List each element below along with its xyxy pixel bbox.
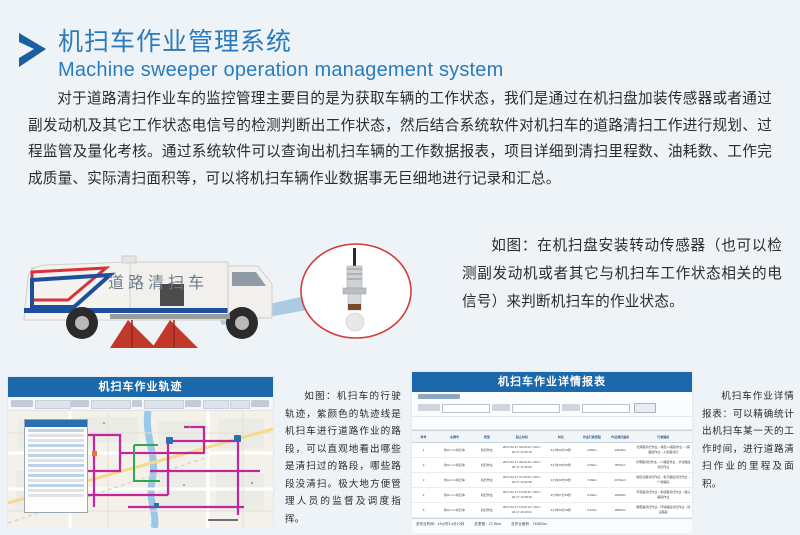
map-canvas[interactable] — [8, 411, 273, 528]
cell-type: 机扫作业 — [474, 443, 500, 458]
excel-export-button[interactable] — [412, 429, 438, 436]
table-row[interactable]: 1鲁H××××机扫车机扫作业2017-02-17 08:24:20 / 2017… — [412, 443, 692, 458]
cell-area: 18000m² — [606, 503, 634, 518]
page-subtitle: Machine sweeper operation management sys… — [58, 59, 504, 82]
summary-item: 总里程：27.9km — [474, 522, 501, 526]
report-panel-title: 机扫车作业详情报表 — [412, 372, 692, 392]
map-toolbar[interactable] — [8, 397, 273, 411]
page-title: 机扫车作业管理系统 — [58, 28, 292, 56]
table-body: 1鲁H××××机扫车机扫作业2017-02-17 08:24:20 / 2017… — [412, 443, 692, 518]
cell-no: 2 — [412, 458, 435, 473]
cell-plate: 鲁H××××机扫车 — [435, 458, 474, 473]
map-panel: 机扫车作业轨迹 — [8, 377, 273, 527]
sweeper-figure: 道路清扫车 — [10, 228, 430, 353]
summary-item: 总作业时间：16小时14分12秒 — [416, 522, 464, 526]
col-time: 起止时间 — [500, 431, 544, 443]
cell-mileage: 7.26km — [578, 473, 606, 488]
cell-duration: 3小时20分36秒 — [544, 473, 578, 488]
sensor-callout — [301, 244, 411, 338]
cell-plate: 鲁H××××机扫车 — [435, 473, 474, 488]
cell-mileage: 3.25km — [578, 458, 606, 473]
report-panel: 机扫车作业详情报表 序号 车牌号 类型 起止时间 时长 — [412, 372, 692, 517]
cell-no: 1 — [412, 443, 435, 458]
col-area: 作业清扫面积 — [606, 431, 634, 443]
cell-type: 机扫作业 — [474, 473, 500, 488]
cell-mileage: 3.27km — [578, 503, 606, 518]
cell-no: 5 — [412, 503, 435, 518]
start-date-input[interactable] — [512, 404, 560, 413]
cell-route: 光明路清扫作业→××路段作业→文化路段清扫作业 — [634, 458, 692, 473]
table-row[interactable]: 4鲁H××××机扫车机扫作业2017-02-17 10:25:41 / 2017… — [412, 488, 692, 503]
map-panel-caption: 如图：机扫车的行驶轨迹，紫颜色的轨迹线是机扫车进行道路作业的路段，可以直观地看出… — [285, 388, 401, 528]
chevron-right-icon — [16, 30, 52, 70]
cell-type: 机扫作业 — [474, 503, 500, 518]
cell-area: 10059m² — [606, 488, 634, 503]
cell-mileage: 4.85km — [578, 443, 606, 458]
cell-duration: 3小时00分46秒 — [544, 443, 578, 458]
cell-duration: 2小时50分18秒 — [544, 503, 578, 518]
query-button[interactable] — [634, 403, 656, 413]
table-row[interactable]: 3鲁H××××机扫车机扫作业2017-02-17 07:25:00 / 2017… — [412, 473, 692, 488]
map-panel-title: 机扫车作业轨迹 — [8, 377, 273, 397]
page-header: 机扫车作业管理系统 Machine sweeper operation mana… — [0, 14, 800, 76]
intro-paragraph: 对于道路清扫作业车的监控管理主要目的是为获取车辆的工作状态，我们是通过在机扫盘加… — [28, 86, 772, 192]
col-route: 行驶路段 — [634, 431, 692, 443]
cell-plate: 鲁H××××机扫车 — [435, 488, 474, 503]
map-info-popup-icon[interactable] — [24, 419, 88, 513]
cell-no: 3 — [412, 473, 435, 488]
cell-route: 朝阳路清扫作业→环城路段清扫作业→建设路段 — [634, 503, 692, 518]
sensor-note: 如图：在机扫盘安装转动传感器（也可以检测副发动机或者其它与机扫车工作状态相关的电… — [462, 232, 782, 316]
cell-duration: 3小时07分36秒 — [544, 488, 578, 503]
cell-area: 20731m² — [606, 473, 634, 488]
col-duration: 时长 — [544, 431, 578, 443]
cell-area: 13446m² — [606, 443, 634, 458]
cell-area: 8570m² — [606, 458, 634, 473]
col-plate: 车牌号 — [435, 431, 474, 443]
cell-route: 育英路清扫作业→新建路清扫作业→振兴路段作业 — [634, 488, 692, 503]
cell-route: 长顺路清扫作业→城区××路段作业→×镇路段作业→人民路清扫 — [634, 443, 692, 458]
cell-time: 2017-02-17 13:54:13 / 2017-02-17 16:23:0… — [500, 503, 544, 518]
col-mileage: 作业行驶里程 — [578, 431, 606, 443]
cell-type: 机扫作业 — [474, 458, 500, 473]
cell-no: 4 — [412, 488, 435, 503]
summary-item: 总作业面积：76362m² — [511, 522, 547, 526]
vehicle-select[interactable] — [442, 404, 490, 413]
col-type: 类型 — [474, 431, 500, 443]
table-header-row: 序号 车牌号 类型 起止时间 时长 作业行驶里程 作业清扫面积 行驶路段 — [412, 431, 692, 443]
cell-type: 机扫作业 — [474, 488, 500, 503]
cell-plate: 鲁H××××机扫车 — [435, 503, 474, 518]
table-row[interactable]: 2鲁H××××机扫车机扫作业2017-02-17 08:24:40 / 2017… — [412, 458, 692, 473]
cell-duration: 3小时20分36秒 — [544, 458, 578, 473]
cell-route: 城区北路清扫作业→和平路段清扫作业→广场路段 — [634, 473, 692, 488]
cell-mileage: 3.23km — [578, 488, 606, 503]
poster-page: 机扫车作业管理系统 Machine sweeper operation mana… — [0, 0, 800, 535]
truck-label: 道路清扫车 — [108, 274, 208, 292]
cell-time: 2017-02-17 10:25:41 / 2017-02-17 13:48:3… — [500, 488, 544, 503]
report-panel-caption: 机扫车作业详情报表：可以精确统计出机扫车某一天的工作时间，进行道路清扫作业的里程… — [702, 388, 794, 493]
report-filter-bar[interactable] — [412, 392, 692, 417]
cell-time: 2017-02-17 08:24:40 / 2017-02-17 11:25:0… — [500, 458, 544, 473]
cell-time: 2017-02-17 07:25:00 / 2017-02-17 10:32:5… — [500, 473, 544, 488]
cell-time: 2017-02-17 08:24:20 / 2017-02-17 12:25:1… — [500, 443, 544, 458]
cell-plate: 鲁H××××机扫车 — [435, 443, 474, 458]
table-row[interactable]: 5鲁H××××机扫车机扫作业2017-02-17 13:54:13 / 2017… — [412, 503, 692, 518]
end-date-input[interactable] — [582, 404, 630, 413]
report-summary: 总作业时间：16小时14分12秒总里程：27.9km总作业面积：76362m² — [412, 518, 692, 533]
street-sweeper-truck-icon — [24, 256, 272, 348]
report-table: 序号 车牌号 类型 起止时间 时长 作业行驶里程 作业清扫面积 行驶路段 1鲁H… — [412, 430, 692, 518]
